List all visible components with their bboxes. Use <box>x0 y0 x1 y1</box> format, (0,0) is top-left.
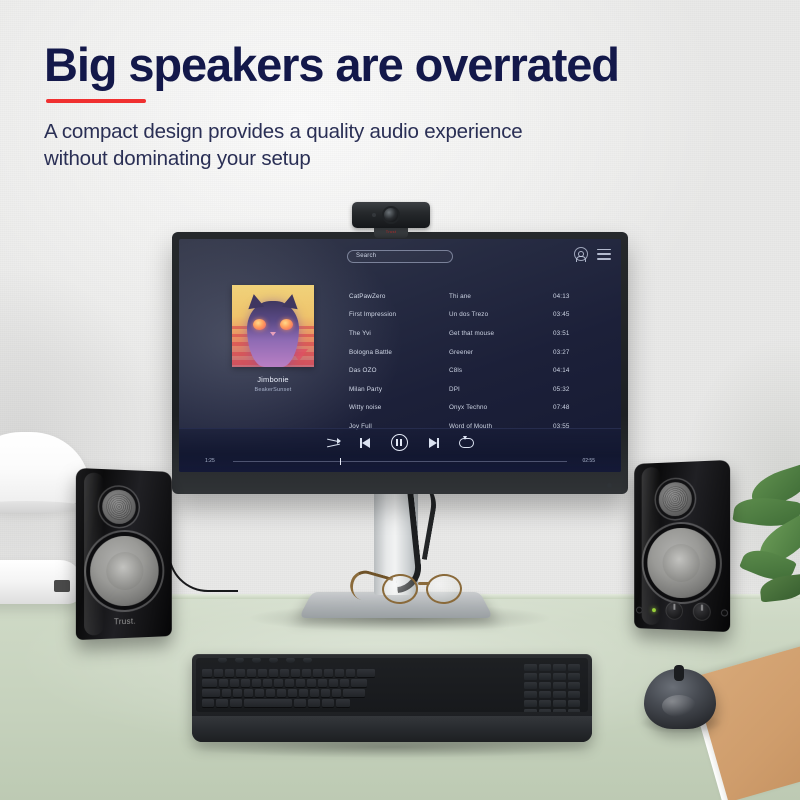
keyboard-numpad-key[interactable] <box>553 664 566 671</box>
subheadline-line-1: A compact design provides a quality audi… <box>44 118 684 145</box>
keyboard-numpad-key[interactable] <box>568 682 581 689</box>
keyboard-numpad[interactable] <box>524 664 584 712</box>
keyboard-key[interactable] <box>202 689 220 697</box>
keyboard-key[interactable] <box>202 669 212 677</box>
keyboard-numpad-key[interactable] <box>539 691 552 698</box>
eyeglasses-lens <box>425 573 463 605</box>
speaker-left-brand-label: Trust. <box>76 616 172 628</box>
headphone-jack-icon[interactable] <box>636 606 643 613</box>
keyboard-key[interactable] <box>202 699 214 707</box>
track-duration: 03:27 <box>553 349 595 356</box>
keyboard-key[interactable] <box>351 679 367 687</box>
keyboard-numpad-key[interactable] <box>524 682 537 689</box>
mouse[interactable] <box>644 669 716 729</box>
keyboard-key[interactable] <box>313 669 322 677</box>
speaker-tweeter <box>659 482 692 517</box>
hamburger-menu-icon[interactable] <box>597 249 611 260</box>
keyboard-palm-rest <box>192 716 592 742</box>
pause-button-icon[interactable] <box>391 434 408 451</box>
track-album: Thi ane <box>449 293 553 300</box>
player-top-right-actions <box>574 247 611 261</box>
keyboard-key[interactable] <box>255 689 264 697</box>
now-playing-artist: BeakerSunset <box>219 387 327 393</box>
volume-knob[interactable] <box>693 602 711 621</box>
keyboard-key[interactable] <box>219 679 228 687</box>
keyboard-key[interactable] <box>266 689 275 697</box>
artwork-cat-icon <box>247 301 299 367</box>
keyboard-numpad-key[interactable] <box>524 664 537 671</box>
repeat-icon[interactable] <box>459 438 474 448</box>
previous-track-icon[interactable] <box>360 438 371 448</box>
shuffle-icon[interactable] <box>327 438 340 448</box>
eyeglasses <box>352 570 474 608</box>
subheadline-line-2: without dominating your setup <box>44 145 684 172</box>
keyboard-numpad-key[interactable] <box>539 673 552 680</box>
keyboard-numpad-key[interactable] <box>568 691 581 698</box>
search-input[interactable]: Search <box>347 250 453 263</box>
keyboard-key[interactable] <box>291 669 300 677</box>
track-name: CatPawZero <box>349 293 449 300</box>
keyboard-key[interactable] <box>329 679 338 687</box>
track-row[interactable]: Witty noiseOnyx Techno07:48 <box>349 399 607 418</box>
keyboard-key[interactable] <box>244 689 253 697</box>
page-subheadline: A compact design provides a quality audi… <box>44 118 684 173</box>
keyboard-key[interactable] <box>244 699 292 707</box>
keyboard[interactable] <box>192 654 592 742</box>
keyboard-numpad-key[interactable] <box>539 700 552 707</box>
headline-accent-rule <box>46 99 146 103</box>
speaker-tweeter <box>102 489 135 524</box>
keyboard-numpad-key[interactable] <box>524 673 537 680</box>
keyboard-key[interactable] <box>307 679 316 687</box>
track-list: CatPawZeroThi ane04:13First ImpressionUn… <box>349 287 607 436</box>
keyboard-key[interactable] <box>296 679 305 687</box>
keyboard-numpad-key[interactable] <box>568 673 581 680</box>
keyboard-numpad-key[interactable] <box>568 664 581 671</box>
keyboard-numpad-key[interactable] <box>539 664 552 671</box>
webcam-brand-label: Trust <box>377 229 405 234</box>
keyboard-key[interactable] <box>280 669 289 677</box>
keyboard-key[interactable] <box>294 699 306 707</box>
page-headline: Big speakers are overrated <box>44 40 744 89</box>
aux-jack-icon[interactable] <box>721 609 728 616</box>
keyboard-numpad-key[interactable] <box>553 673 566 680</box>
keyboard-key[interactable] <box>233 689 242 697</box>
now-playing-panel: Jimbonie BeakerSunset <box>219 285 327 393</box>
webcam-lens-icon <box>384 208 398 222</box>
keyboard-key[interactable] <box>336 699 350 707</box>
keyboard-key[interactable] <box>332 689 341 697</box>
track-duration: 03:51 <box>553 330 595 337</box>
track-duration: 03:45 <box>553 311 595 318</box>
keyboard-key-row <box>202 679 367 687</box>
user-circle-icon[interactable] <box>574 247 588 261</box>
album-artwork[interactable] <box>232 285 314 367</box>
keyboard-key[interactable] <box>230 679 239 687</box>
progress-handle[interactable] <box>340 458 342 465</box>
keyboard-numpad-key[interactable] <box>568 709 581 712</box>
transport-controls <box>179 434 621 451</box>
remaining-time: 02:55 <box>573 458 595 464</box>
track-album: Get that mouse <box>449 330 553 337</box>
keyboard-key[interactable] <box>285 679 294 687</box>
power-led-indicator <box>652 608 656 612</box>
monitor-screen: Search <box>179 239 621 472</box>
track-row[interactable]: The YviGet that mouse03:51 <box>349 324 607 343</box>
elapsed-time: 1:25 <box>205 458 227 464</box>
keyboard-key[interactable] <box>308 699 320 707</box>
desk-lamp-base <box>0 560 82 604</box>
keyboard-key[interactable] <box>324 669 333 677</box>
keyboard-numpad-key[interactable] <box>553 682 566 689</box>
keyboard-key-row <box>202 669 375 677</box>
track-duration: 04:13 <box>553 293 595 300</box>
keyboard-key[interactable] <box>230 699 242 707</box>
progress-bar-row: 1:25 02:55 <box>179 458 621 464</box>
track-name: Witty noise <box>349 404 449 411</box>
track-row[interactable]: First ImpressionUn dos Trezo03:45 <box>349 306 607 325</box>
plant-leaf <box>759 574 800 603</box>
player-controls-bar: 1:25 02:55 <box>179 428 621 472</box>
track-row[interactable]: CatPawZeroThi ane04:13 <box>349 287 607 306</box>
keyboard-key[interactable] <box>274 679 283 687</box>
progress-slider[interactable] <box>233 461 567 462</box>
keyboard-key-deck <box>196 658 588 712</box>
track-album: Un dos Trezo <box>449 311 553 318</box>
keyboard-key[interactable] <box>216 699 228 707</box>
track-album: DPI <box>449 386 553 393</box>
keyboard-key[interactable] <box>310 689 319 697</box>
keyboard-key[interactable] <box>214 669 223 677</box>
keyboard-key[interactable] <box>302 669 311 677</box>
search-placeholder: Search <box>356 253 376 259</box>
keyboard-key[interactable] <box>346 669 355 677</box>
track-name: Bologna Battle <box>349 349 449 356</box>
track-album: Greener <box>449 349 553 356</box>
now-playing-title: Jimbonie <box>219 375 327 384</box>
track-row[interactable]: Milan PartyDPI05:32 <box>349 380 607 399</box>
speaker-left: Trust. <box>76 468 172 640</box>
keyboard-key-row <box>202 689 365 697</box>
track-row[interactable]: Bologna BattleGreener03:27 <box>349 343 607 362</box>
track-row[interactable]: Das OZOC8ls04:14 <box>349 361 607 380</box>
keyboard-key[interactable] <box>299 689 308 697</box>
keyboard-key[interactable] <box>288 689 297 697</box>
track-album: Onyx Techno <box>449 404 553 411</box>
track-duration: 07:48 <box>553 404 595 411</box>
webcam-mic-icon <box>372 213 376 217</box>
keyboard-numpad-key[interactable] <box>524 709 537 712</box>
keyboard-key[interactable] <box>258 669 267 677</box>
track-duration: 05:32 <box>553 386 595 393</box>
keyboard-key[interactable] <box>241 679 250 687</box>
keyboard-numpad-key[interactable] <box>553 700 566 707</box>
keyboard-key[interactable] <box>340 679 349 687</box>
track-name: Das OZO <box>349 367 449 374</box>
keyboard-key[interactable] <box>318 679 327 687</box>
keyboard-numpad-key[interactable] <box>553 709 566 712</box>
keyboard-key[interactable] <box>252 679 261 687</box>
keyboard-key[interactable] <box>322 699 334 707</box>
monitor: Search <box>172 232 628 494</box>
speaker-control-panel <box>634 595 730 628</box>
track-album: C8ls <box>449 367 553 374</box>
keyboard-key[interactable] <box>277 689 286 697</box>
keyboard-key[interactable] <box>343 689 365 697</box>
track-duration: 04:14 <box>553 367 595 374</box>
keyboard-key[interactable] <box>236 669 245 677</box>
keyboard-key[interactable] <box>222 689 231 697</box>
keyboard-key[interactable] <box>225 669 234 677</box>
keyboard-numpad-key[interactable] <box>524 691 537 698</box>
keyboard-key[interactable] <box>335 669 344 677</box>
keyboard-numpad-key[interactable] <box>568 700 581 707</box>
keyboard-media-keys[interactable] <box>218 658 312 663</box>
keyboard-key[interactable] <box>263 679 272 687</box>
speaker-woofer <box>90 536 158 607</box>
keyboard-key[interactable] <box>357 669 375 677</box>
keyboard-numpad-key[interactable] <box>539 709 552 712</box>
keyboard-key-row <box>202 699 350 707</box>
keyboard-numpad-key[interactable] <box>553 691 566 698</box>
keyboard-key[interactable] <box>321 689 330 697</box>
keyboard-key[interactable] <box>269 669 278 677</box>
speaker-right <box>634 460 730 632</box>
next-track-icon[interactable] <box>428 438 439 448</box>
bass-knob[interactable] <box>665 602 682 621</box>
track-name: Milan Party <box>349 386 449 393</box>
keyboard-numpad-key[interactable] <box>539 682 552 689</box>
keyboard-numpad-key[interactable] <box>524 700 537 707</box>
track-name: The Yvi <box>349 330 449 337</box>
speaker-woofer <box>647 528 715 599</box>
player-top-bar: Search <box>179 239 621 273</box>
keyboard-key[interactable] <box>202 679 217 687</box>
webcam <box>352 202 430 228</box>
track-name: First Impression <box>349 311 449 318</box>
keyboard-key[interactable] <box>247 669 256 677</box>
